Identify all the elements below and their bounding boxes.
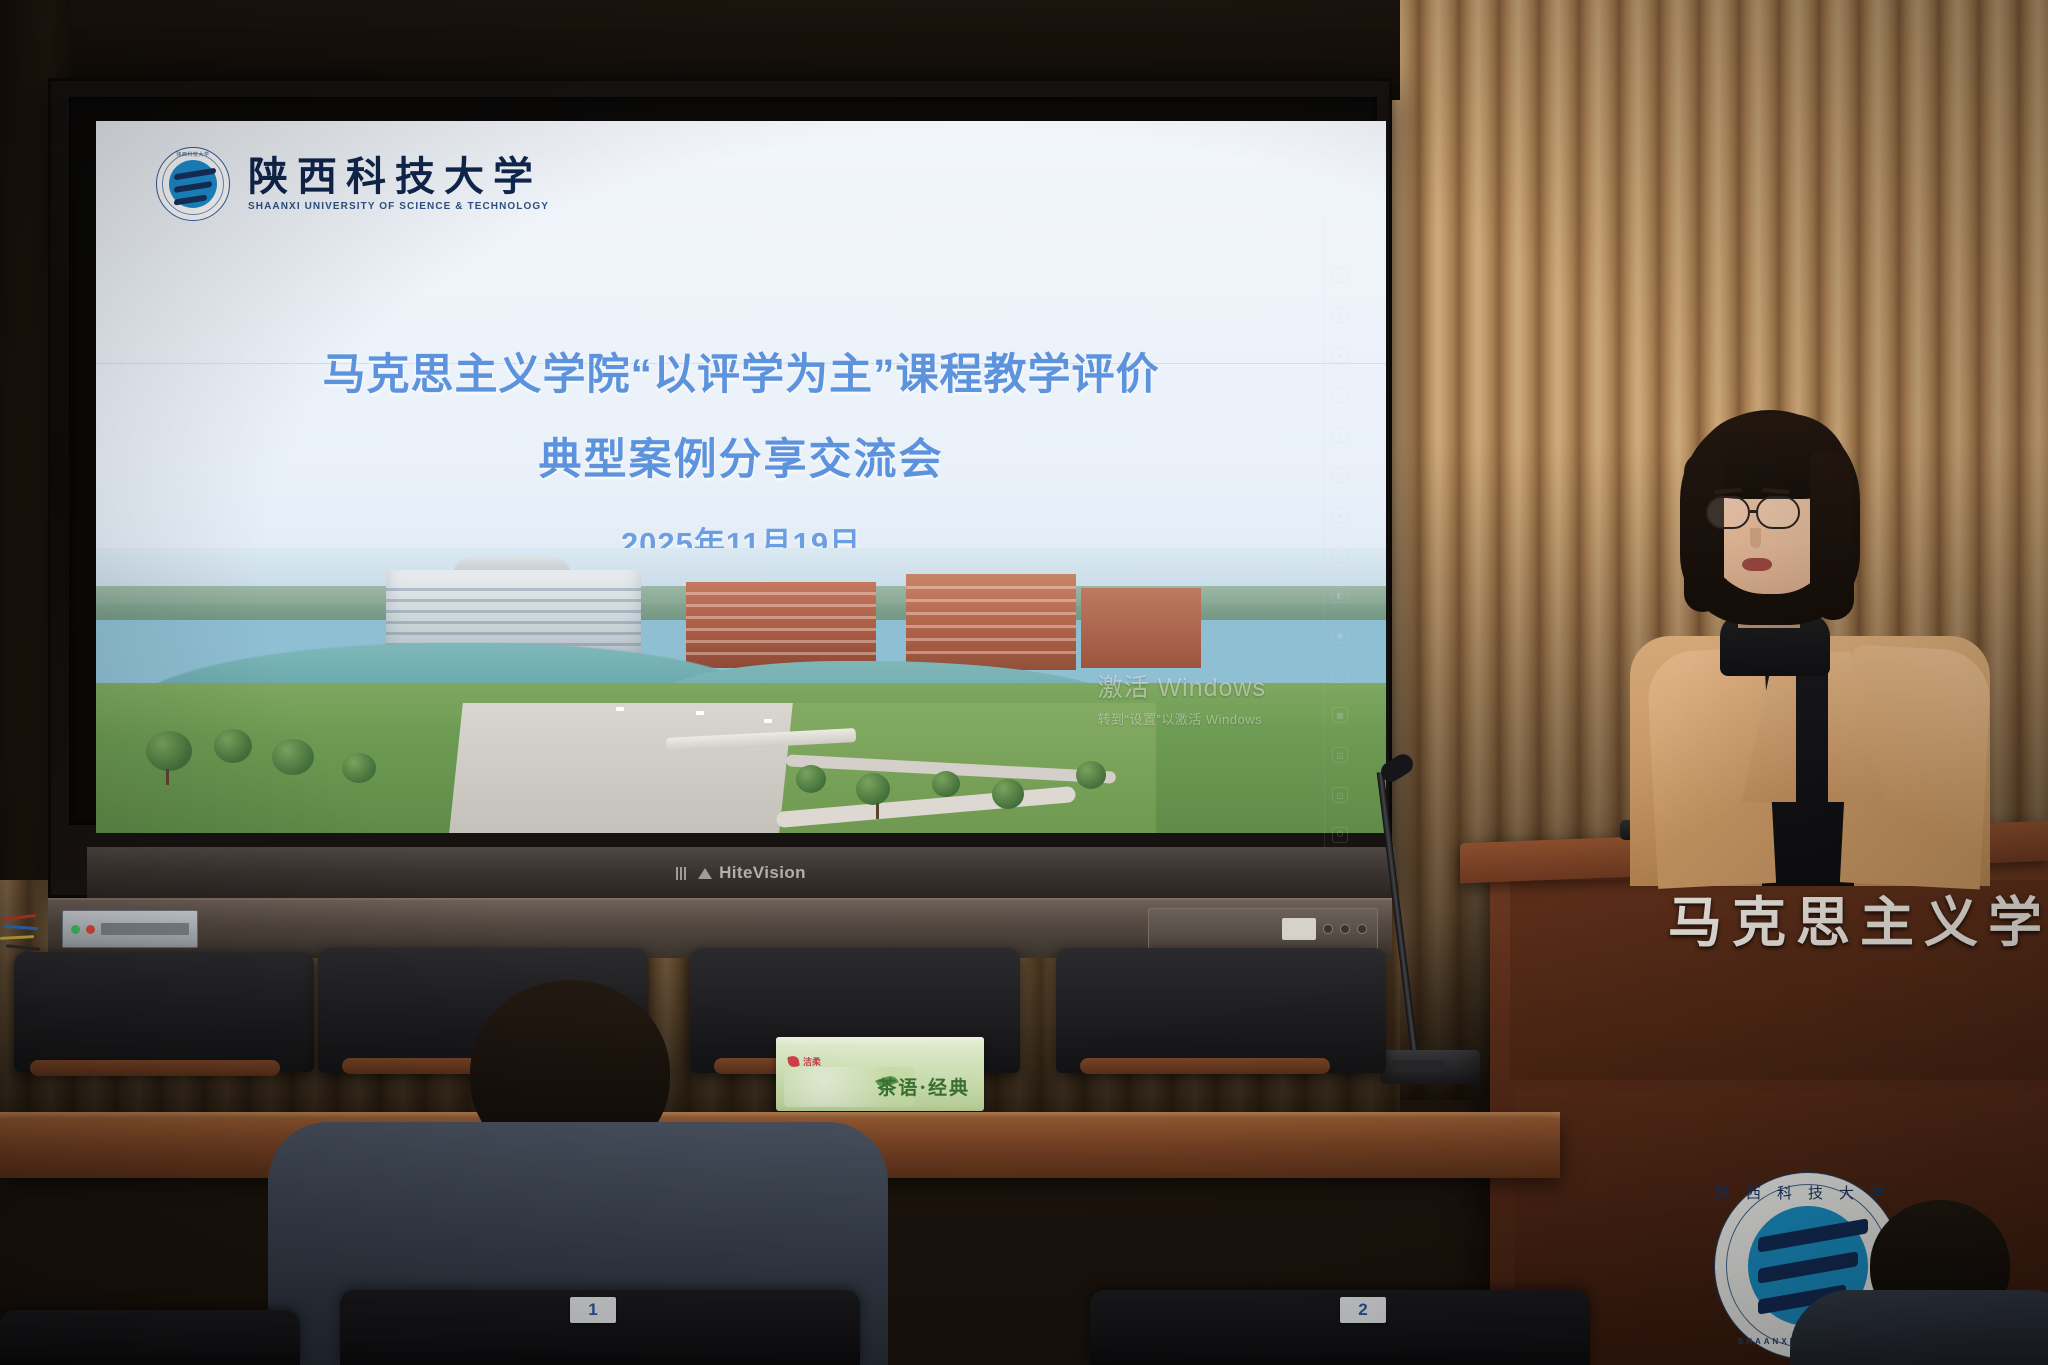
seat-number-2: 2 — [1340, 1297, 1386, 1323]
screen-icon[interactable]: ▢ — [1332, 387, 1348, 403]
settings-icon[interactable]: ✲ — [1332, 307, 1348, 323]
eyeglasses-left-lens — [1706, 496, 1750, 529]
podium-title: 马克思主义学院 — [1668, 878, 2048, 957]
refresh-icon[interactable]: ↻ — [1332, 467, 1348, 483]
speaker-hair-right — [1810, 452, 1854, 620]
eyeglasses-bridge — [1750, 510, 1758, 513]
table-microphone-base — [1380, 1050, 1480, 1084]
pen-icon[interactable]: ✎ — [1332, 547, 1348, 563]
power-led-green — [71, 925, 80, 934]
university-name-cn: 陕西科技大学 — [248, 157, 549, 197]
display-brand-label: HiteVision — [719, 863, 806, 883]
camera-icon[interactable]: ◫ — [1332, 747, 1348, 763]
bezel-icon-strip[interactable]: ⌂ ✲ ◈ ▢ ◑ ↻ ☻ ✎ ◧ ◉ ◔ ▦ ◫ ◰ ⏻ — [1327, 267, 1353, 843]
amplifier-knob-3[interactable] — [1357, 924, 1367, 934]
capture-icon[interactable]: ◰ — [1332, 787, 1348, 803]
power-icon[interactable]: ⏻ — [1332, 827, 1348, 843]
tissue-product-name: 茶语·经典 — [877, 1073, 970, 1100]
presentation-screen[interactable]: 陕西科技大学 陕西科技大学 SHAANXI UNIVERSITY OF SCIE… — [96, 121, 1386, 833]
display-chin: HiteVision — [87, 847, 1395, 899]
seat-number-1: 1 — [570, 1297, 616, 1323]
speaker-mouth — [1742, 558, 1772, 571]
interactive-whiteboard[interactable]: 陕西科技大学 陕西科技大学 SHAANXI UNIVERSITY OF SCIE… — [48, 78, 1392, 898]
campus-photo: 激活 Windows 转到“设置”以激活 Windows — [96, 548, 1386, 833]
user-icon[interactable]: ☻ — [1332, 507, 1348, 523]
bezel-divider-line — [1324, 217, 1325, 857]
heart-icon — [787, 1055, 800, 1068]
slide-title-line-1: 马克思主义学院“以评学为主”课程教学评价 — [96, 343, 1386, 408]
amplifier-knob-2[interactable] — [1340, 924, 1350, 934]
slide-title-line-2: 典型案例分享交流会 — [96, 430, 1386, 490]
university-logo-icon: 陕西科技大学 — [156, 147, 230, 221]
hitevision-bars-icon — [676, 867, 691, 880]
speaker-hair-left — [1684, 452, 1724, 612]
volume-icon[interactable]: ◑ — [1332, 427, 1348, 443]
hitevision-triangle-icon — [698, 868, 712, 879]
eyeglasses-right-lens — [1756, 496, 1800, 529]
record-icon[interactable]: ◉ — [1332, 627, 1348, 643]
tissue-box[interactable]: 洁柔 茶语·经典 — [776, 1037, 984, 1111]
timer-icon[interactable]: ◔ — [1332, 667, 1348, 683]
chair-arm-right — [1080, 1058, 1330, 1074]
tissue-brand-label: 洁柔 — [803, 1055, 821, 1068]
empty-chair-left — [14, 952, 314, 1072]
seat-row-far-left — [0, 1310, 300, 1365]
display-bezel: 陕西科技大学 陕西科技大学 SHAANXI UNIVERSITY OF SCIE… — [69, 97, 1377, 825]
seal-chinese-text: 陕西科技大学 — [1714, 1182, 1902, 1203]
chair-arm-left — [30, 1060, 280, 1076]
speaker-person — [1650, 400, 1980, 870]
university-name-en: SHAANXI UNIVERSITY OF SCIENCE & TECHNOLO… — [248, 201, 549, 212]
av-control-panel[interactable] — [62, 910, 198, 948]
display-brand: HiteVision — [676, 863, 806, 883]
amplifier-unit[interactable] — [1148, 908, 1378, 950]
slide-title-block: 马克思主义学院“以评学为主”课程教学评价 典型案例分享交流会 2025年11月1… — [96, 343, 1386, 563]
university-logo-lockup: 陕西科技大学 陕西科技大学 SHAANXI UNIVERSITY OF SCIE… — [156, 147, 549, 221]
amplifier-knob-1[interactable] — [1323, 924, 1333, 934]
amplifier-label — [1282, 918, 1316, 940]
home-icon[interactable]: ⌂ — [1332, 267, 1348, 283]
speaker-nose — [1750, 528, 1761, 548]
network-icon[interactable]: ◈ — [1332, 347, 1348, 363]
grid-icon[interactable]: ▦ — [1332, 707, 1348, 723]
scene-root: 陕西科技大学 陕西科技大学 SHAANXI UNIVERSITY OF SCIE… — [0, 0, 2048, 1365]
tissue-brand-logo: 洁柔 — [788, 1055, 821, 1068]
eraser-icon[interactable]: ◧ — [1332, 587, 1348, 603]
audience-shoulders-2 — [1790, 1290, 2048, 1365]
logo-arc-text: 陕西科技大学 — [156, 151, 230, 158]
panel-slot — [101, 923, 189, 935]
empty-chair-right — [1056, 948, 1386, 1073]
status-led-red — [86, 925, 95, 934]
